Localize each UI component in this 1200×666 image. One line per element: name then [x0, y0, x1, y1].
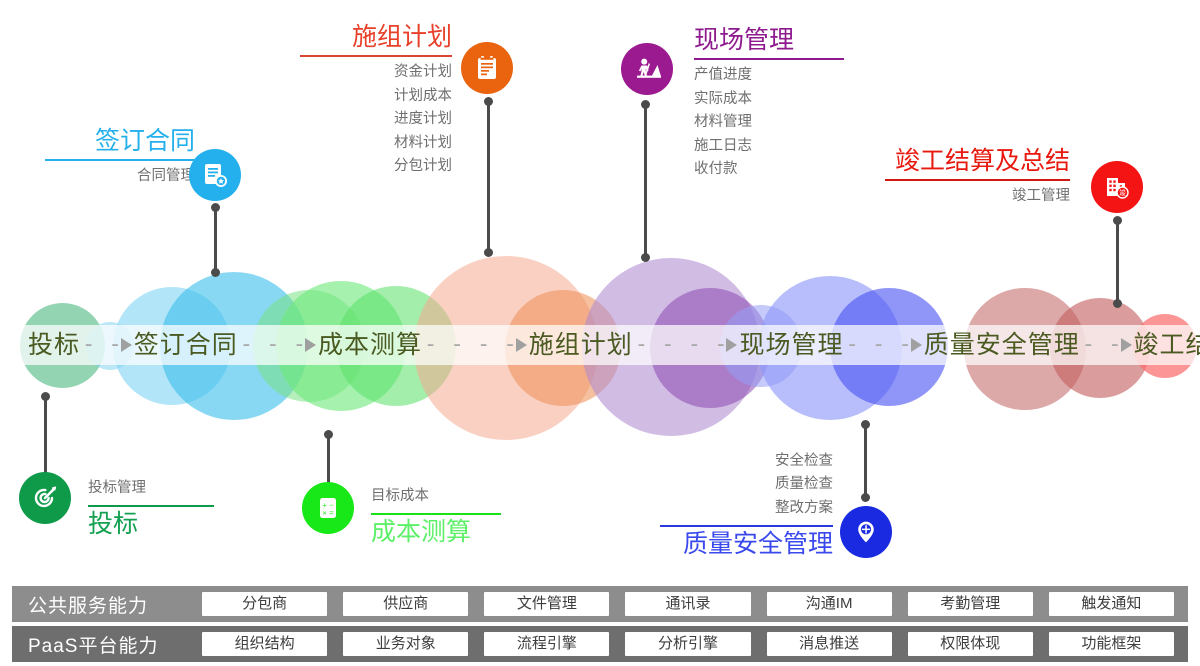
callout-xianchang-guanli: 现场管理 产值进度 实际成本 材料管理 施工日志 收付款: [694, 27, 844, 182]
location-pin-icon: [851, 517, 881, 547]
icon-target-dart[interactable]: [19, 472, 71, 524]
callout-sublabels: 资金计划 计划成本 进度计划 材料计划 分包计划: [300, 61, 452, 178]
sublabel: 材料计划: [300, 132, 452, 155]
callout-jungong-jiesuan: 竣工结算及总结 竣工管理: [885, 148, 1070, 209]
sublabel: 合同管理: [45, 165, 195, 188]
capability-row: 公共服务能力分包商供应商文件管理通讯录沟通IM考勤管理触发通知: [12, 586, 1188, 622]
capability-cell[interactable]: 通讯录: [625, 592, 750, 616]
callout-shizu-jihua: 施组计划 资金计划 计划成本 进度计划 材料计划 分包计划: [300, 24, 452, 179]
target-dart-icon: [30, 483, 60, 513]
callout-toubiao: 投标管理 投标: [88, 477, 214, 538]
callout-qianding-hetong: 签订合同 合同管理: [45, 128, 195, 189]
capability-cell[interactable]: 功能框架: [1049, 632, 1174, 656]
sublabel: 产值进度: [694, 64, 844, 87]
building-complete-icon: 竣: [1102, 172, 1132, 202]
sublabel: 质量检查: [660, 473, 833, 496]
calculator-icon: + − × =: [313, 493, 343, 523]
callout-sublabels: 合同管理: [45, 165, 195, 188]
callout-sublabels: 投标管理: [88, 477, 214, 500]
callout-rule: [885, 179, 1070, 181]
sublabel: 目标成本: [371, 485, 501, 508]
sublabel: 分包计划: [300, 155, 452, 178]
callout-sublabels: 安全检查 质量检查 整改方案: [660, 450, 833, 520]
capability-row-label: 公共服务能力: [12, 591, 202, 618]
callout-rule: [660, 525, 833, 527]
icon-construction-worker[interactable]: [621, 43, 673, 95]
flow-arrow-icon: - - -: [240, 333, 316, 358]
sublabel: 施工日志: [694, 135, 844, 158]
sublabel: 实际成本: [694, 88, 844, 111]
icon-clipboard-wrench[interactable]: [461, 42, 513, 94]
icon-contract-seal[interactable]: [189, 149, 241, 201]
callout-rule: [45, 159, 195, 161]
capability-cell[interactable]: 考勤管理: [908, 592, 1033, 616]
callout-title: 成本测算: [371, 519, 501, 545]
capability-cell[interactable]: 分析引擎: [625, 632, 750, 656]
flow-arrow-icon: - -: [1082, 333, 1132, 358]
capability-cell[interactable]: 流程引擎: [484, 632, 609, 656]
sublabel: 资金计划: [300, 61, 452, 84]
icon-location-pin[interactable]: [840, 506, 892, 558]
callout-title: 投标: [88, 511, 214, 537]
icon-calculator[interactable]: + − × =: [302, 482, 354, 534]
capability-cell[interactable]: 组织结构: [202, 632, 327, 656]
sublabel: 整改方案: [660, 497, 833, 520]
capability-row: PaaS平台能力组织结构业务对象流程引擎分析引擎消息推送权限体现功能框架: [12, 626, 1188, 662]
sublabel: 进度计划: [300, 108, 452, 131]
svg-text:竣: 竣: [1119, 188, 1126, 197]
callout-title: 签订合同: [45, 128, 195, 154]
sublabel: 安全检查: [660, 450, 833, 473]
flow-step[interactable]: 投标: [28, 333, 80, 358]
construction-worker-icon: [632, 54, 662, 84]
capability-cells: 组织结构业务对象流程引擎分析引擎消息推送权限体现功能框架: [202, 632, 1188, 656]
contract-seal-icon: [200, 160, 230, 190]
flow-step[interactable]: 竣工结算及总结: [1134, 333, 1200, 358]
callout-zhiliang-anquan: 安全检查 质量检查 整改方案 质量安全管理: [660, 450, 833, 558]
flow-arrow-icon: - -: [82, 333, 132, 358]
flow-step[interactable]: 施组计划: [529, 333, 633, 358]
capability-row-label: PaaS平台能力: [12, 631, 202, 658]
flow-arrow-icon: - - -: [846, 333, 922, 358]
flow-step[interactable]: 现场管理: [739, 333, 843, 358]
infographic-root: 投标- -签订合同- - -成本测算- - - -施组计划- - - -现场管理…: [0, 0, 1200, 666]
clipboard-wrench-icon: [472, 53, 502, 83]
callout-title: 竣工结算及总结: [885, 148, 1070, 174]
callout-rule: [88, 505, 214, 507]
flow-step[interactable]: 成本测算: [318, 333, 422, 358]
capability-cell[interactable]: 触发通知: [1049, 592, 1174, 616]
sublabel: 竣工管理: [885, 185, 1070, 208]
sublabel: 计划成本: [300, 85, 452, 108]
sublabel: 投标管理: [88, 477, 214, 500]
capability-table: 公共服务能力分包商供应商文件管理通讯录沟通IM考勤管理触发通知PaaS平台能力组…: [12, 586, 1188, 666]
callout-chengben-cesuan: 目标成本 成本测算: [371, 485, 501, 546]
callout-rule: [300, 55, 452, 57]
process-flow: 投标- -签订合同- - -成本测算- - - -施组计划- - - -现场管理…: [0, 325, 1200, 365]
sublabel: 材料管理: [694, 111, 844, 134]
svg-text:=: =: [329, 509, 334, 518]
flow-step[interactable]: 签订合同: [134, 333, 238, 358]
capability-cells: 分包商供应商文件管理通讯录沟通IM考勤管理触发通知: [202, 592, 1188, 616]
capability-cell[interactable]: 文件管理: [484, 592, 609, 616]
icon-building-complete[interactable]: 竣: [1091, 161, 1143, 213]
callout-sublabels: 目标成本: [371, 485, 501, 508]
callout-rule: [371, 513, 501, 515]
svg-text:×: ×: [322, 509, 326, 518]
capability-cell[interactable]: 供应商: [343, 592, 468, 616]
sublabel: 收付款: [694, 158, 844, 181]
capability-cell[interactable]: 分包商: [202, 592, 327, 616]
flow-arrow-icon: - - - -: [635, 333, 738, 358]
capability-cell[interactable]: 业务对象: [343, 632, 468, 656]
capability-cell[interactable]: 权限体现: [908, 632, 1033, 656]
callout-rule: [694, 58, 844, 60]
callout-sublabels: 产值进度 实际成本 材料管理 施工日志 收付款: [694, 64, 844, 181]
callout-title: 质量安全管理: [660, 531, 833, 557]
capability-cell[interactable]: 消息推送: [767, 632, 892, 656]
capability-cell[interactable]: 沟通IM: [767, 592, 892, 616]
callout-title: 现场管理: [694, 27, 844, 53]
callout-title: 施组计划: [300, 24, 452, 50]
flow-arrow-icon: - - - -: [424, 333, 527, 358]
flow-step[interactable]: 质量安全管理: [924, 333, 1080, 358]
callout-sublabels: 竣工管理: [885, 185, 1070, 208]
